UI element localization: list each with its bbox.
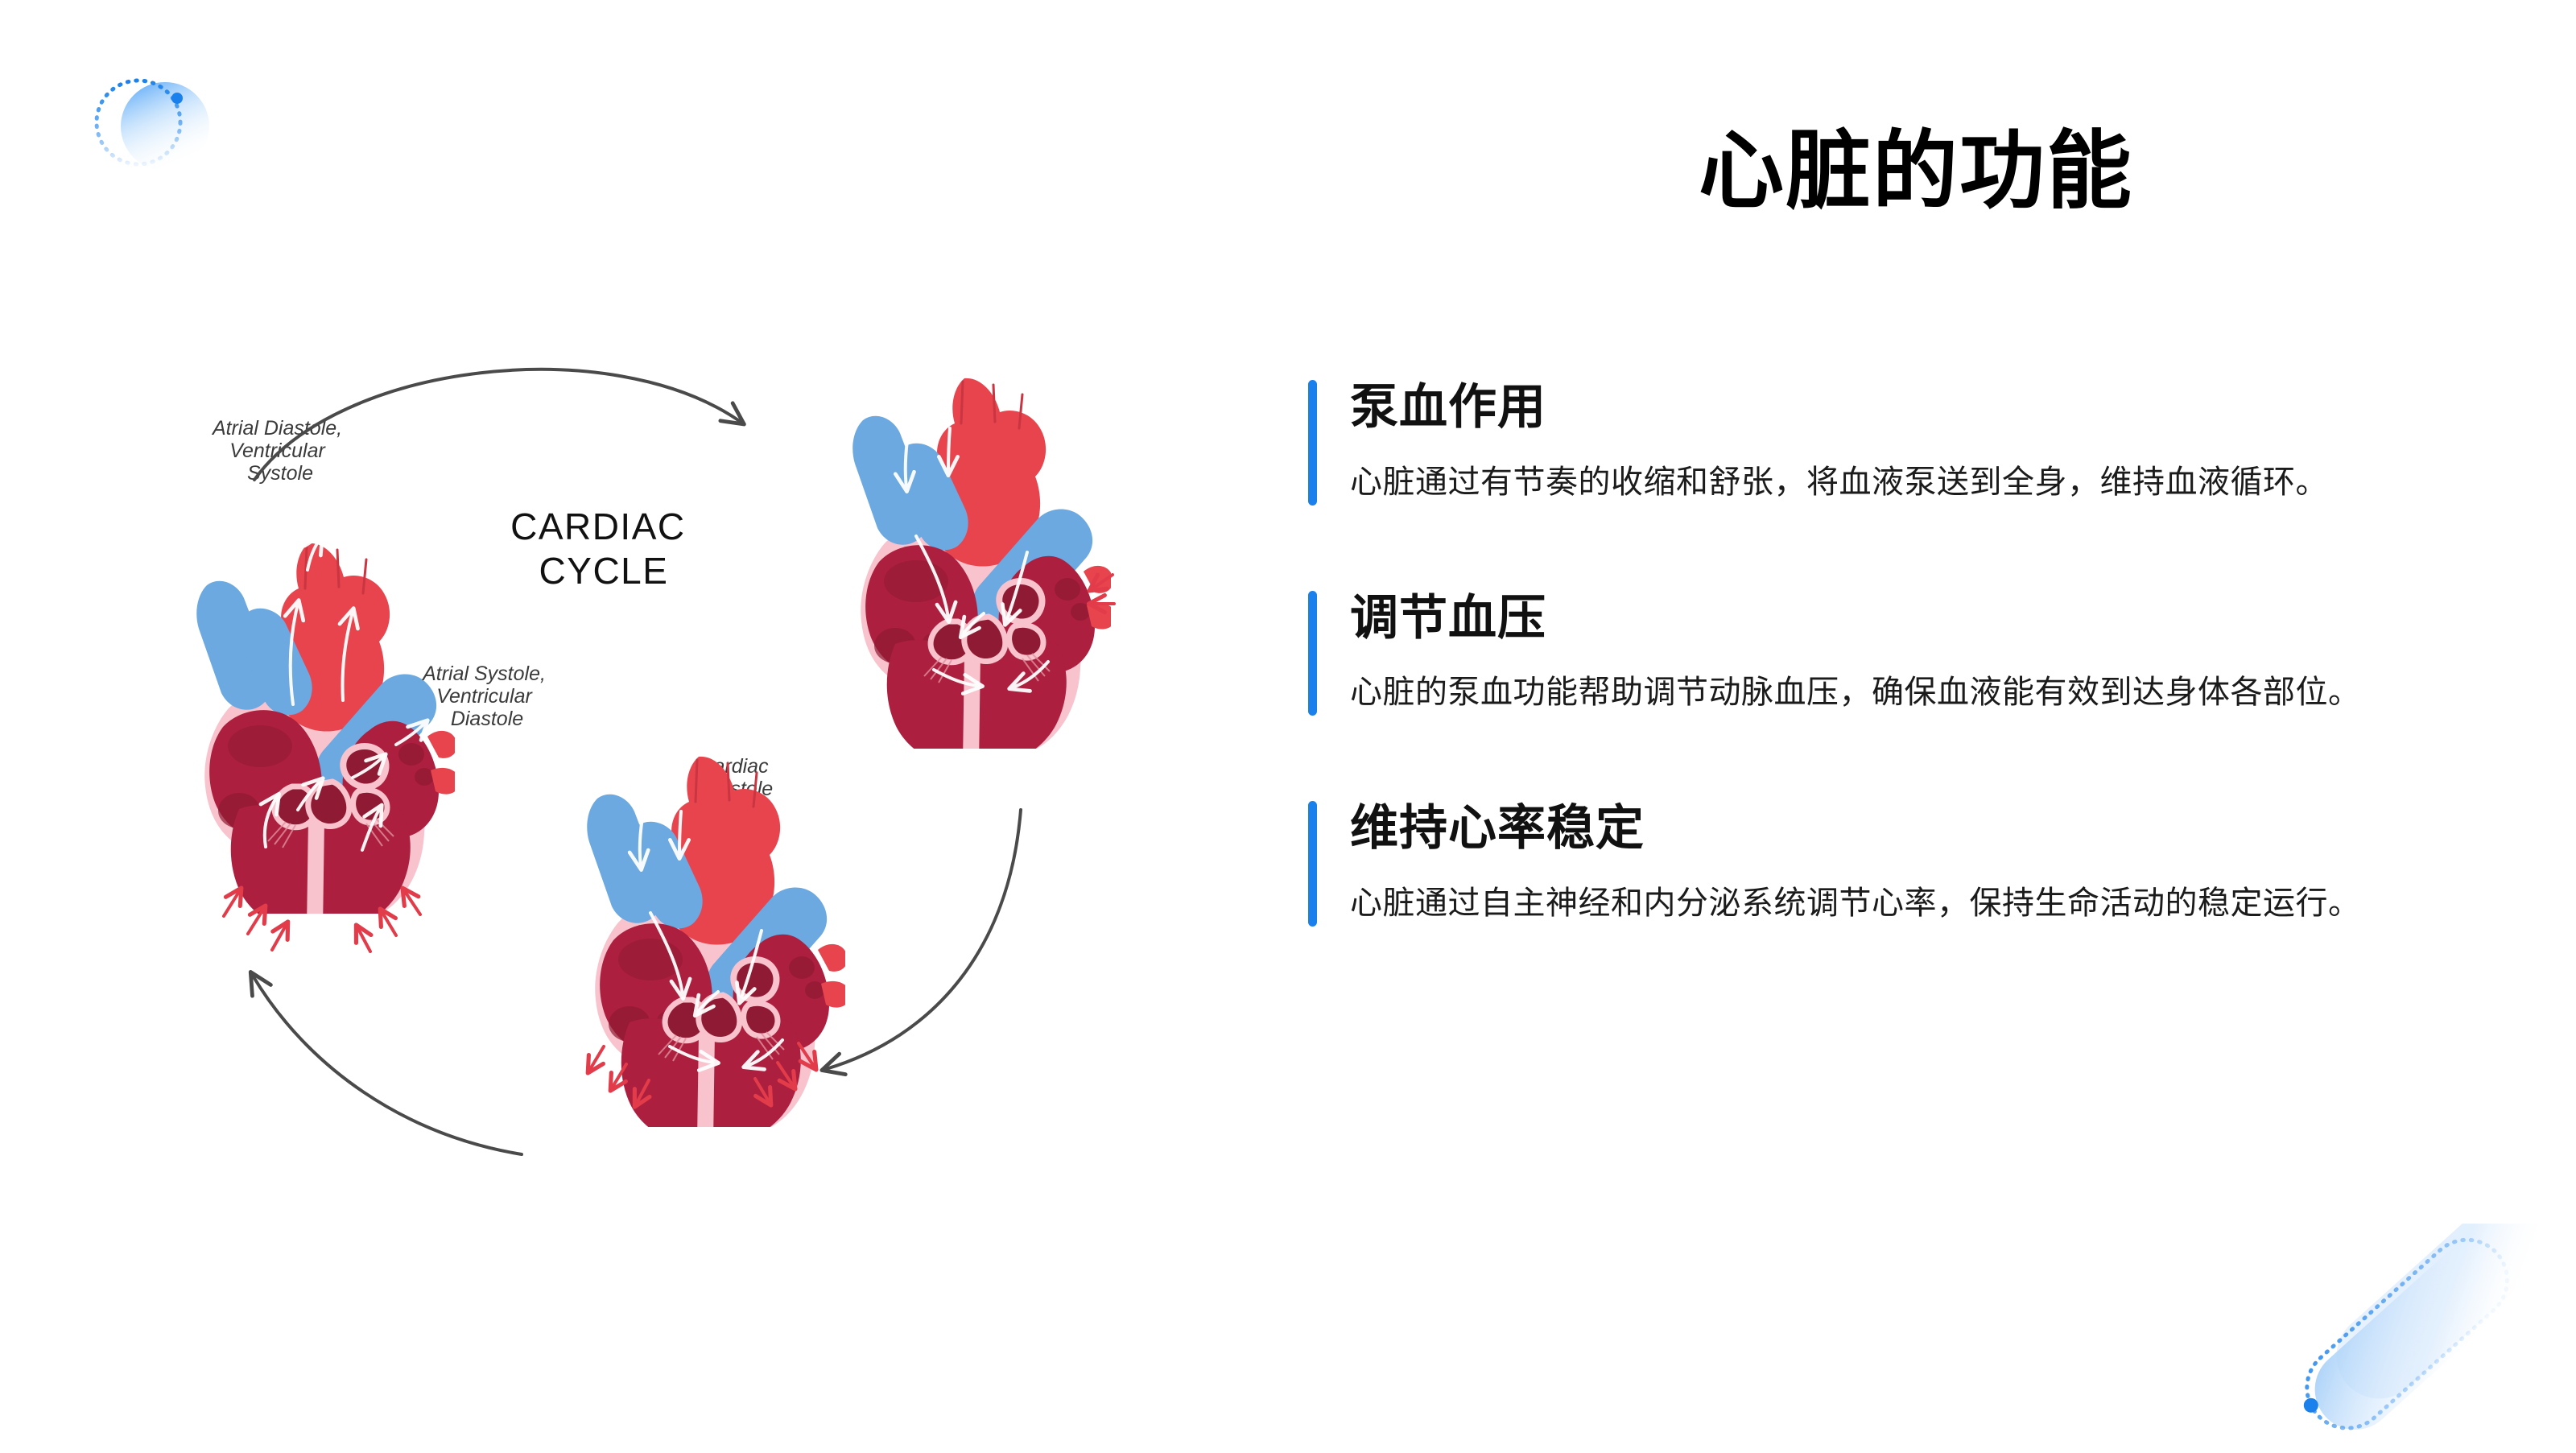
section-pump-blood: 泵血作用 心脏通过有节奏的收缩和舒张，将血液泵送到全身，维持血液循环。 — [1308, 377, 2435, 509]
accent-dot — [171, 93, 183, 104]
section-body: 心脏通过有节奏的收缩和舒张，将血液泵送到全身，维持血液循环。 — [1350, 456, 2435, 509]
heart-stage-bottom: Atrial Systole, Ventricular Diastole — [421, 663, 850, 1145]
cycle-center-label: CARDIAC CYCLE — [510, 506, 697, 592]
gradient-sphere — [121, 82, 209, 171]
section-stable-heart-rate: 维持心率稳定 心脏通过自主神经和内分泌系统调节心率，保持生命活动的稳定运行。 — [1308, 798, 2435, 930]
section-body: 心脏的泵血功能帮助调节动脉血压，确保血液能有效到达身体各部位。 — [1350, 667, 2435, 719]
cardiac-cycle-illustration: Atrial Diastole, Ventricular Systole Car… — [97, 338, 1175, 1256]
section-title: 维持心率稳定 — [1350, 798, 2435, 860]
section-regulate-blood-pressure: 调节血压 心脏的泵血功能帮助调节动脉血压，确保血液能有效到达身体各部位。 — [1308, 588, 2435, 720]
capsule-front — [2298, 1225, 2532, 1447]
heart-stage-left: Atrial Diastole, Ventricular Systole — [196, 417, 460, 951]
content-sections: 泵血作用 心脏通过有节奏的收缩和舒张，将血液泵送到全身，维持血液循环。 调节血压… — [1308, 377, 2435, 930]
cycle-center-line1: CARDIAC — [510, 506, 686, 547]
accent-bar — [1308, 801, 1317, 927]
decoration-top-left — [48, 32, 233, 185]
cycle-center-line2: CYCLE — [539, 550, 669, 592]
accent-bar — [1308, 591, 1317, 716]
decoration-bottom-right — [2238, 1224, 2576, 1449]
section-title: 调节血压 — [1350, 588, 2435, 650]
cycle-arrow-right-to-bottom — [826, 810, 1021, 1069]
page-title: 心脏的功能 — [1288, 121, 2544, 223]
section-title: 泵血作用 — [1350, 377, 2435, 439]
cycle-arrow-bottom-to-left — [253, 976, 522, 1154]
accent-bar — [1308, 380, 1317, 506]
heart-stage-right: Cardiac Diastole — [699, 378, 1116, 800]
stage-label-bottom: Atrial Systole, Ventricular Diastole — [421, 663, 551, 730]
section-body: 心脏通过自主神经和内分泌系统调节心率，保持生命活动的稳定运行。 — [1350, 877, 2435, 930]
